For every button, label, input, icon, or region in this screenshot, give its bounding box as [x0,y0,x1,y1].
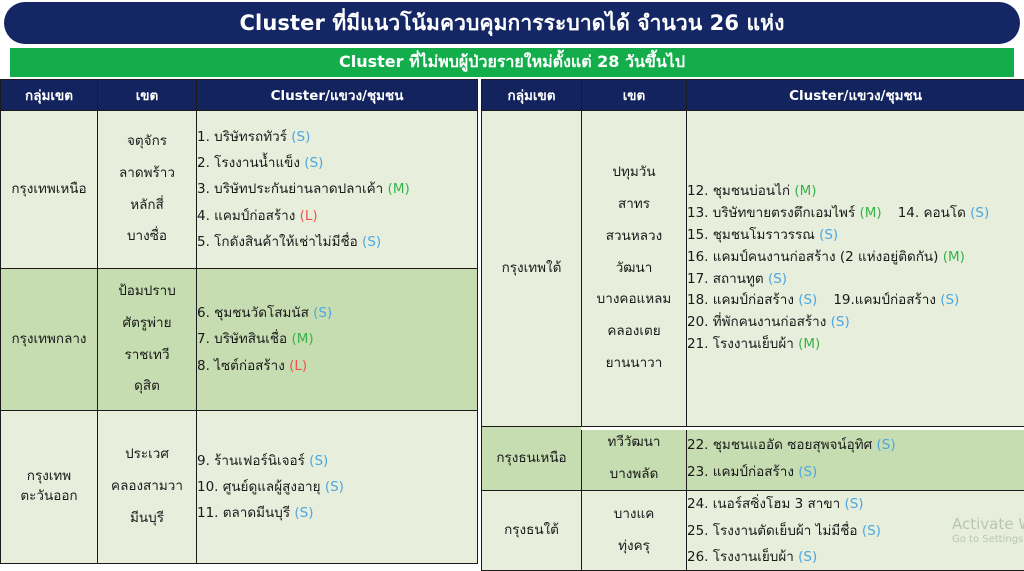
cluster-size-tag: (S) [768,271,787,287]
district-label: จตุจักร [98,126,196,158]
district-label: ปทุมวัน [582,157,686,189]
district-label: คลองสามวา [98,471,196,503]
table-row: กรุงธนใต้บางแคทุ่งครุ24. เนอร์สซิ่งโฮม 3… [482,491,1024,571]
header-cluster-col: Cluster/แขวง/ชุมชน [197,80,478,111]
cluster-cell: 24. เนอร์สซิ่งโฮม 3 สาขา (S)25. โรงงานตั… [687,491,1024,571]
group-label: กรุงธนเหนือ [496,450,566,466]
cluster-entry: 22. ชุมชนแออัด ซอยสุพจน์อุทิศ (S) [687,432,1024,458]
cluster-name: 24. เนอร์สซิ่งโฮม 3 สาขา [687,496,844,512]
cluster-size-tag: (M) [860,205,882,221]
subtitle-text: Cluster ที่ไม่พบผู้ป่วยรายใหม่ตั้งแต่ 28… [339,50,685,75]
cluster-name: 17. สถานทูต [687,271,768,287]
district-label: บางพลัด [582,459,686,491]
cluster-cell: 6. ชุมชนวัดโสมนัส (S)7. บริษัทสินเชื่อ (… [197,269,478,411]
page-title: Cluster ที่มีแนวโน้มควบคุมการระบาดได้ จำ… [240,7,785,40]
cluster-size-tag: (M) [794,183,816,199]
cluster-name: 9. ร้านเฟอร์นิเจอร์ [197,453,309,469]
cluster-cell: 12. ชุมชนบ่อนไก่ (M)13. บริษัทขายตรงตึกเ… [687,111,1024,427]
cluster-entry: 20. ที่พักคนงานก่อสร้าง (S) [687,312,1024,334]
cluster-size-tag: (S) [313,305,332,321]
cluster-name: 11. ตลาดมีนบุรี [197,505,294,521]
cluster-size-tag: (S) [831,314,850,330]
cluster-name: 2. โรงงานน้ำแข็ง [197,155,304,171]
subtitle-banner: Cluster ที่ไม่พบผู้ป่วยรายใหม่ตั้งแต่ 28… [10,48,1014,77]
group-cell: กรุงธนใต้ [482,491,582,571]
district-label: หลักสี่ [98,190,196,222]
district-label: คลองเตย [582,316,686,348]
district-label: ราชเทวี [98,340,196,372]
district-label: ป้อมปราบ [98,276,196,308]
cluster-entry: 3. บริษัทประกันย่านลาดปลาเค้า (M) [197,176,477,202]
cluster-entry: 11. ตลาดมีนบุรี (S) [197,500,477,526]
cluster-entry: 10. ศูนย์ดูแลผู้สูงอายุ (S) [197,474,477,500]
cluster-name: 15. ชุมชนโมราวรรณ [687,227,819,243]
cluster-cell: 22. ชุมชนแออัด ซอยสุพจน์อุทิศ (S)23. แคม… [687,427,1024,491]
district-cell: ประเวศคลองสามวามีนบุรี [98,411,197,564]
table-row: กรุงเทพตะวันออกประเวศคลองสามวามีนบุรี9. … [1,411,478,564]
cluster-cell: 9. ร้านเฟอร์นิเจอร์ (S)10. ศูนย์ดูแลผู้ส… [197,411,478,564]
district-label: บางคอแหลม [582,284,686,316]
cluster-size-tag: (S) [304,155,323,171]
district-label: บางแค [582,499,686,531]
district-label: ทุ่งครุ [582,531,686,563]
group-label: กรุงเทพเหนือ [11,181,86,197]
cluster-size-tag: (S) [798,464,817,480]
cluster-name: 21. โรงงานเย็บผ้า [687,336,798,352]
district-cell: ปทุมวันสาทรสวนหลวงวัฒนาบางคอแหลมคลองเตยย… [582,111,687,427]
district-cell: บางแคทุ่งครุ [582,491,687,571]
cluster-name: 19.แคมป์ก่อสร้าง [833,292,940,308]
right-table-body: กรุงเทพใต้ปทุมวันสาทรสวนหลวงวัฒนาบางคอแห… [482,111,1024,571]
left-table-header-row: กลุ่มเขต เขต Cluster/แขวง/ชุมชน [1,80,478,111]
table-row: กรุงธนเหนือทวีวัฒนาบางพลัด22. ชุมชนแออัด… [482,427,1024,491]
district-label: ดุสิต [98,371,196,403]
cluster-entry: 9. ร้านเฟอร์นิเจอร์ (S) [197,448,477,474]
cluster-entry: 15. ชุมชนโมราวรรณ (S) [687,225,1024,247]
cluster-entry: 24. เนอร์สซิ่งโฮม 3 สาขา (S) [687,491,1024,517]
cluster-size-tag: (S) [819,227,838,243]
cluster-name: 22. ชุมชนแออัด ซอยสุพจน์อุทิศ [687,437,877,453]
header-cluster-col: Cluster/แขวง/ชุมชน [687,80,1024,111]
cluster-size-tag: (S) [798,292,817,308]
group-label: ตะวันออก [1,487,97,507]
district-label: ทวีวัฒนา [582,427,686,459]
cluster-entry: 25. โรงงานตัดเย็บผ้า ไม่มีชื่อ (S) [687,518,1024,544]
cluster-name: 25. โรงงานตัดเย็บผ้า ไม่มีชื่อ [687,523,862,539]
cluster-size-tag: (S) [325,479,344,495]
cluster-entry: 8. ไซต์ก่อสร้าง (L) [197,353,477,379]
cluster-size-tag: (M) [943,249,965,265]
cluster-size-tag: (M) [798,336,820,352]
right-cluster-table-container: กลุ่มเขต เขต Cluster/แขวง/ชุมชน กรุงเทพใ… [481,79,1024,563]
left-cluster-table: กลุ่มเขต เขต Cluster/แขวง/ชุมชน กรุงเทพเ… [0,79,478,564]
cluster-name: 23. แคมป์ก่อสร้าง [687,464,798,480]
cluster-name: 1. บริษัทรถทัวร์ [197,129,291,145]
cluster-size-tag: (L) [289,358,307,374]
group-cell: กรุงเทพตะวันออก [1,411,98,564]
table-row: กรุงเทพกลางป้อมปราบศัตรูพ่ายราชเทวีดุสิต… [1,269,478,411]
cluster-size-tag: (S) [844,496,863,512]
cluster-name: 7. บริษัทสินเชื่อ [197,331,291,347]
cluster-entry: 2. โรงงานน้ำแข็ง (S) [197,150,477,176]
cluster-size-tag: (L) [300,208,318,224]
district-label: ประเวศ [98,439,196,471]
right-table-header-row: กลุ่มเขต เขต Cluster/แขวง/ชุมชน [482,80,1024,111]
cluster-name: 5. โกดังสินค้าให้เช่าไม่มีชื่อ [197,234,362,250]
district-cell: ทวีวัฒนาบางพลัด [582,427,687,491]
district-label: สวนหลวง [582,221,686,253]
cluster-name: 16. แคมป์คนงานก่อสร้าง (2 แห่งอยู่ติดกัน… [687,249,943,265]
group-label: กรุงเทพใต้ [502,260,562,276]
cluster-size-tag: (S) [862,523,881,539]
cluster-size-tag: (M) [291,331,313,347]
cluster-entry: 23. แคมป์ก่อสร้าง (S) [687,459,1024,485]
cluster-size-tag: (S) [362,234,381,250]
cluster-size-tag: (M) [388,181,410,197]
cluster-size-tag: (S) [940,292,959,308]
cluster-entry: 6. ชุมชนวัดโสมนัส (S) [197,300,477,326]
table-row: กรุงเทพเหนือจตุจักรลาดพร้าวหลักสี่บางซื่… [1,111,478,269]
district-label: วัฒนา [582,253,686,285]
group-cell: กรุงเทพเหนือ [1,111,98,269]
group-label: กรุงเทพกลาง [11,331,86,347]
district-cell: ป้อมปราบศัตรูพ่ายราชเทวีดุสิต [98,269,197,411]
cluster-entry: 16. แคมป์คนงานก่อสร้าง (2 แห่งอยู่ติดกัน… [687,247,1024,269]
cluster-entry: 1. บริษัทรถทัวร์ (S) [197,124,477,150]
group-cell: กรุงธนเหนือ [482,427,582,491]
right-cluster-table: กลุ่มเขต เขต Cluster/แขวง/ชุมชน กรุงเทพใ… [481,79,1024,571]
cluster-size-tag: (S) [291,129,310,145]
cluster-name: 18. แคมป์ก่อสร้าง [687,292,798,308]
group-cell: กรุงเทพกลาง [1,269,98,411]
cluster-entry: 12. ชุมชนบ่อนไก่ (M) [687,181,1024,203]
cluster-entry: 5. โกดังสินค้าให้เช่าไม่มีชื่อ (S) [197,229,477,255]
cluster-name: 3. บริษัทประกันย่านลาดปลาเค้า [197,181,388,197]
cluster-name: 4. แคมป์ก่อสร้าง [197,208,300,224]
district-label: บางซื่อ [98,221,196,253]
cluster-entry: 7. บริษัทสินเชื่อ (M) [197,326,477,352]
district-cell: จตุจักรลาดพร้าวหลักสี่บางซื่อ [98,111,197,269]
district-label: ศัตรูพ่าย [98,308,196,340]
cluster-size-tag: (S) [294,505,313,521]
left-table-body: กรุงเทพเหนือจตุจักรลาดพร้าวหลักสี่บางซื่… [1,111,478,564]
district-label: ลาดพร้าว [98,158,196,190]
cluster-entry: 4. แคมป์ก่อสร้าง (L) [197,203,477,229]
cluster-entry: 18. แคมป์ก่อสร้าง (S)19.แคมป์ก่อสร้าง (S… [687,290,1024,312]
cluster-name: 20. ที่พักคนงานก่อสร้าง [687,314,831,330]
cluster-name: 12. ชุมชนบ่อนไก่ [687,183,794,199]
district-label: สาทร [582,189,686,221]
cluster-entry: 17. สถานทูต (S) [687,269,1024,291]
page-title-banner: Cluster ที่มีแนวโน้มควบคุมการระบาดได้ จำ… [4,2,1020,44]
left-cluster-table-container: กลุ่มเขต เขต Cluster/แขวง/ชุมชน กรุงเทพเ… [0,79,477,563]
cluster-entry: 26. โรงงานเย็บผ้า (S) [687,544,1024,570]
header-group-col: กลุ่มเขต [1,80,98,111]
cluster-name: 14. คอนโด [898,205,970,221]
cluster-name: 6. ชุมชนวัดโสมนัส [197,305,313,321]
group-label: กรุงธนใต้ [504,522,559,538]
header-group-col: กลุ่มเขต [482,80,582,111]
header-district-col: เขต [582,80,687,111]
cluster-name: 8. ไซต์ก่อสร้าง [197,358,289,374]
header-district-col: เขต [98,80,197,111]
cluster-size-tag: (S) [309,453,328,469]
group-label: กรุงเทพ [1,467,97,487]
cluster-name: 10. ศูนย์ดูแลผู้สูงอายุ [197,479,325,495]
group-cell: กรุงเทพใต้ [482,111,582,427]
cluster-size-tag: (S) [877,437,896,453]
cluster-name: 13. บริษัทขายตรงตึกเอมไพร์ [687,205,860,221]
cluster-size-tag: (S) [970,205,989,221]
table-row: กรุงเทพใต้ปทุมวันสาทรสวนหลวงวัฒนาบางคอแห… [482,111,1024,427]
cluster-entry: 13. บริษัทขายตรงตึกเอมไพร์ (M)14. คอนโด … [687,203,1024,225]
district-label: ยานนาวา [582,348,686,380]
cluster-entry: 21. โรงงานเย็บผ้า (M) [687,334,1024,356]
district-label: มีนบุรี [98,503,196,535]
cluster-cell: 1. บริษัทรถทัวร์ (S)2. โรงงานน้ำแข็ง (S)… [197,111,478,269]
